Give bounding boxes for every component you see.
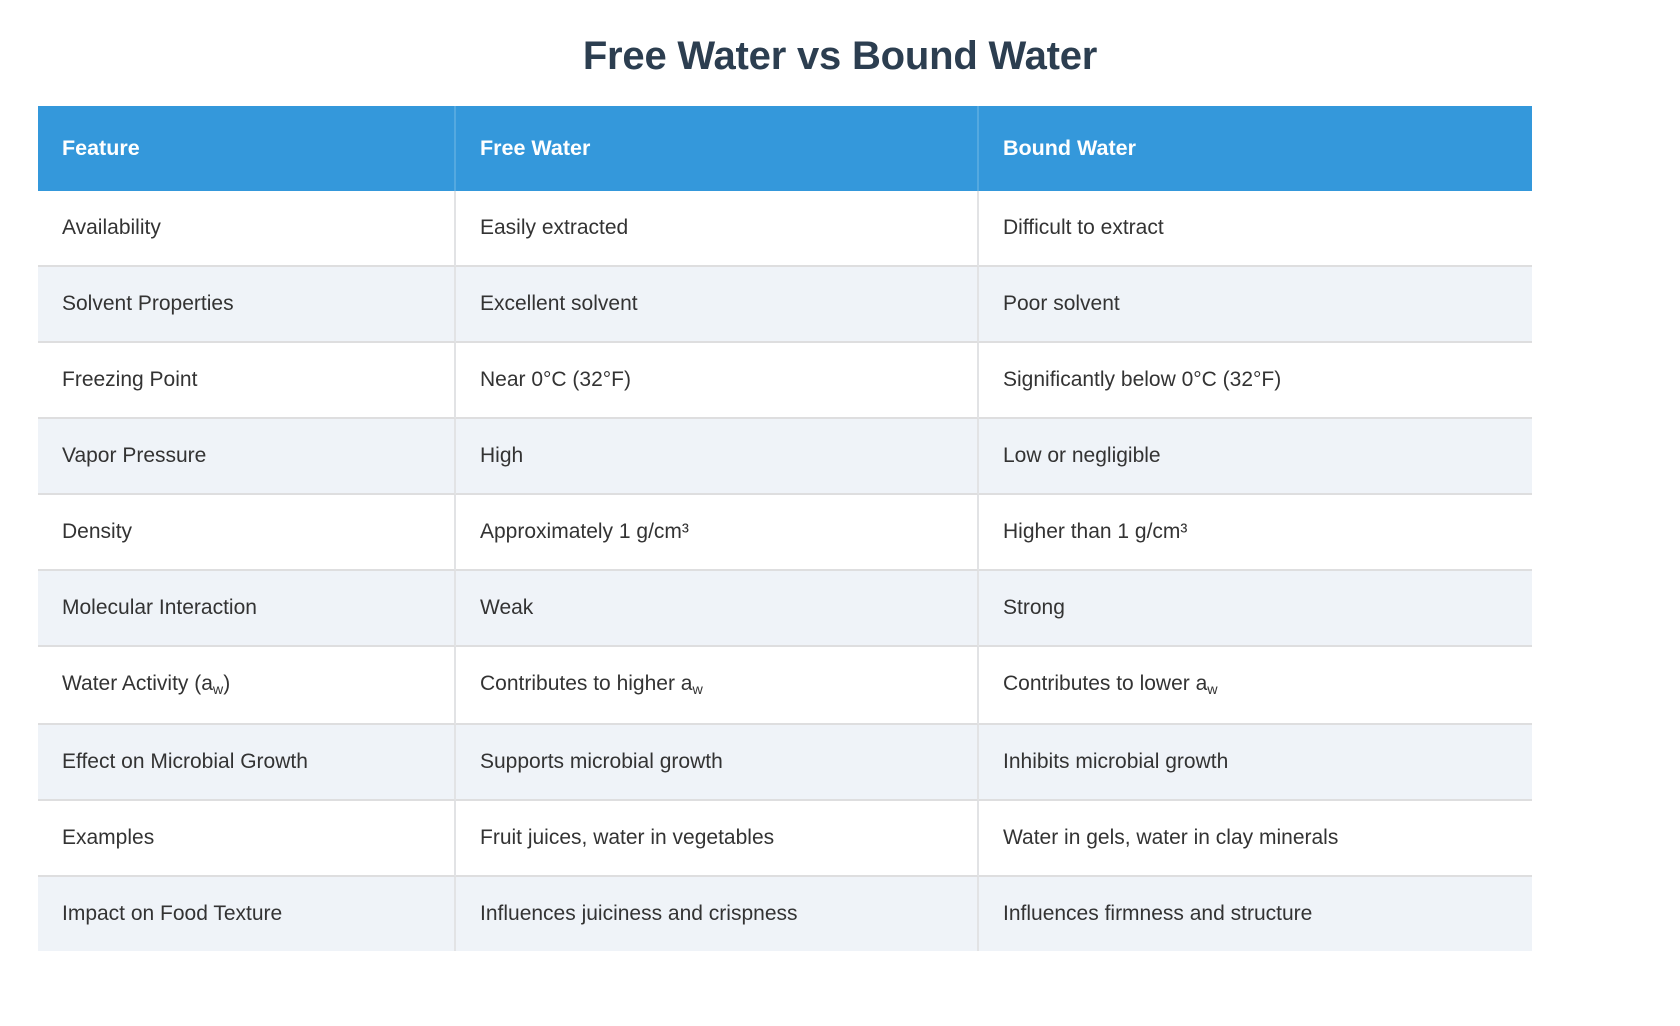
cell-bound-water: Strong (979, 571, 1532, 647)
cell-feature: Effect on Microbial Growth (38, 725, 456, 801)
cell-feature: Solvent Properties (38, 267, 456, 343)
table-body: AvailabilityEasily extractedDifficult to… (38, 191, 1532, 951)
table-header: Feature Free Water Bound Water (38, 106, 1532, 191)
cell-feature: Examples (38, 801, 456, 877)
table-row: Water Activity (aw)Contributes to higher… (38, 647, 1532, 725)
cell-free-water: Easily extracted (456, 191, 979, 267)
column-header-free-water[interactable]: Free Water (456, 106, 979, 191)
cell-free-water: Supports microbial growth (456, 725, 979, 801)
cell-feature: Water Activity (aw) (38, 647, 456, 725)
column-header-feature[interactable]: Feature (38, 106, 456, 191)
cell-free-water: Near 0°C (32°F) (456, 343, 979, 419)
comparison-table: Feature Free Water Bound Water Availabil… (38, 106, 1532, 951)
table-row: Molecular InteractionWeakStrong (38, 571, 1532, 647)
table-row: Effect on Microbial GrowthSupports micro… (38, 725, 1532, 801)
cell-bound-water: Water in gels, water in clay minerals (979, 801, 1532, 877)
cell-bound-water: Higher than 1 g/cm³ (979, 495, 1532, 571)
cell-bound-water: Poor solvent (979, 267, 1532, 343)
table-row: Freezing PointNear 0°C (32°F)Significant… (38, 343, 1532, 419)
cell-bound-water: Inhibits microbial growth (979, 725, 1532, 801)
cell-free-water: High (456, 419, 979, 495)
cell-feature: Vapor Pressure (38, 419, 456, 495)
table-row: Solvent PropertiesExcellent solventPoor … (38, 267, 1532, 343)
cell-feature: Density (38, 495, 456, 571)
cell-feature: Freezing Point (38, 343, 456, 419)
cell-bound-water: Difficult to extract (979, 191, 1532, 267)
table-row: AvailabilityEasily extractedDifficult to… (38, 191, 1532, 267)
cell-feature: Molecular Interaction (38, 571, 456, 647)
cell-feature: Availability (38, 191, 456, 267)
cell-free-water: Excellent solvent (456, 267, 979, 343)
cell-bound-water: Significantly below 0°C (32°F) (979, 343, 1532, 419)
cell-bound-water: Contributes to lower aw (979, 647, 1532, 725)
table-row: Impact on Food TextureInfluences juicine… (38, 877, 1532, 951)
cell-free-water: Weak (456, 571, 979, 647)
page-title: Free Water vs Bound Water (0, 0, 1680, 84)
page-root: Free Water vs Bound Water Feature Free W… (0, 0, 1680, 1026)
table-header-row: Feature Free Water Bound Water (38, 106, 1532, 191)
comparison-table-container: Feature Free Water Bound Water Availabil… (38, 106, 1532, 951)
cell-feature: Impact on Food Texture (38, 877, 456, 951)
cell-free-water: Influences juiciness and crispness (456, 877, 979, 951)
cell-free-water: Fruit juices, water in vegetables (456, 801, 979, 877)
table-row: ExamplesFruit juices, water in vegetable… (38, 801, 1532, 877)
column-header-bound-water[interactable]: Bound Water (979, 106, 1532, 191)
cell-bound-water: Low or negligible (979, 419, 1532, 495)
cell-free-water: Contributes to higher aw (456, 647, 979, 725)
cell-free-water: Approximately 1 g/cm³ (456, 495, 979, 571)
table-row: Vapor PressureHighLow or negligible (38, 419, 1532, 495)
cell-bound-water: Influences firmness and structure (979, 877, 1532, 951)
table-row: DensityApproximately 1 g/cm³Higher than … (38, 495, 1532, 571)
